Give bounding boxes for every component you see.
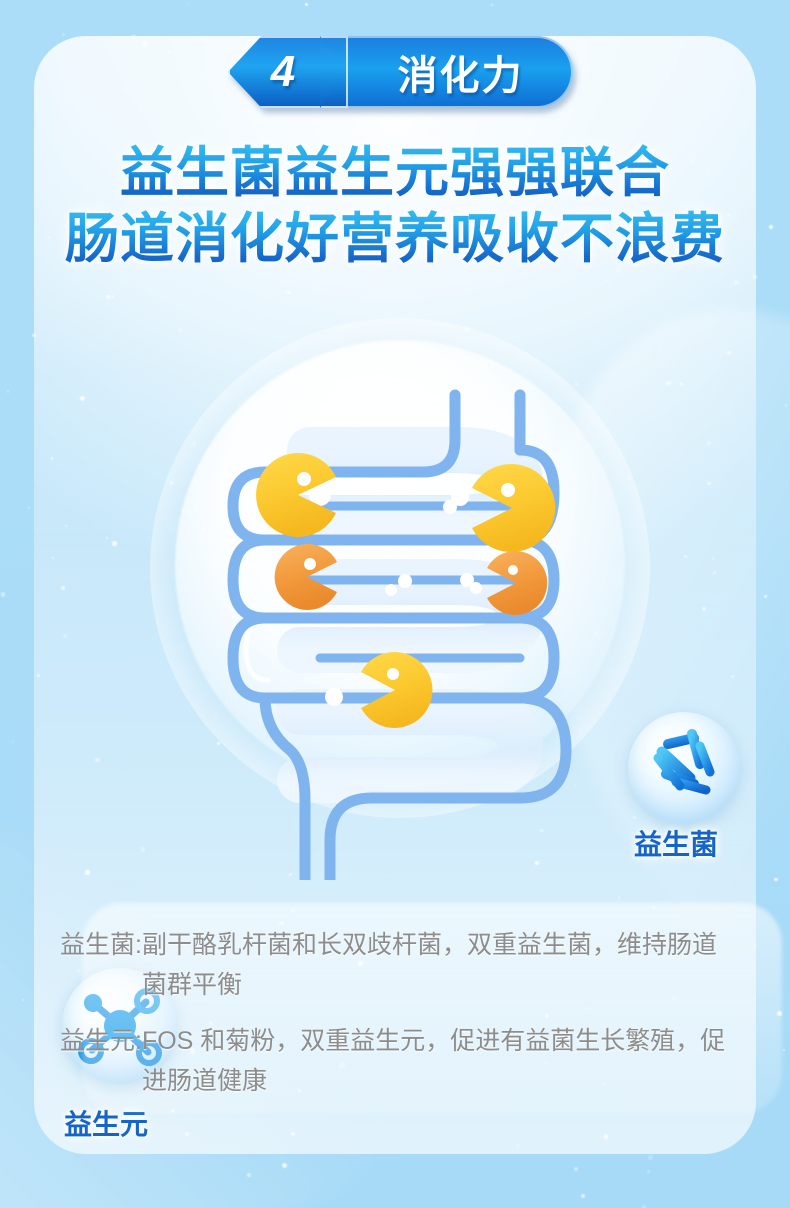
note-text: FOS 和菊粉，双重益生元，促进有益菌生长繁殖，促进肠道健康 [142, 1021, 740, 1101]
note-term: 益生元: [60, 1021, 142, 1101]
headline-line-1: 益生菌益生元强强联合 [0, 140, 790, 206]
note-item: 益生元: FOS 和菊粉，双重益生元，促进有益菌生长繁殖，促进肠道健康 [60, 1021, 740, 1101]
notes-block: 益生菌: 副干酪乳杆菌和长双歧杆菌，双重益生菌，维持肠道菌群平衡 益生元: FO… [60, 925, 740, 1117]
headline-line-2: 肠道消化好营养吸收不浪费 [0, 206, 790, 272]
note-text: 副干酪乳杆菌和长双歧杆菌，双重益生菌，维持肠道菌群平衡 [142, 925, 740, 1005]
badge-number: 4 [228, 36, 338, 108]
illustration-area: 益生菌 益生元 [0, 300, 790, 880]
probiotic-label: 益生菌 [634, 823, 718, 863]
probiotic-bubble[interactable] [628, 712, 740, 824]
section-badge: 4 消化力 [228, 36, 573, 110]
note-term: 益生菌: [60, 925, 142, 1005]
badge-title: 消化力 [348, 36, 573, 108]
bacteria-rods-icon [628, 712, 740, 824]
headline-block: 益生菌益生元强强联合 肠道消化好营养吸收不浪费 [0, 140, 790, 272]
infographic-page: 4 消化力 益生菌益生元强强联合 肠道消化好营养吸收不浪费 [0, 0, 790, 1208]
note-item: 益生菌: 副干酪乳杆菌和长双歧杆菌，双重益生菌，维持肠道菌群平衡 [60, 925, 740, 1005]
